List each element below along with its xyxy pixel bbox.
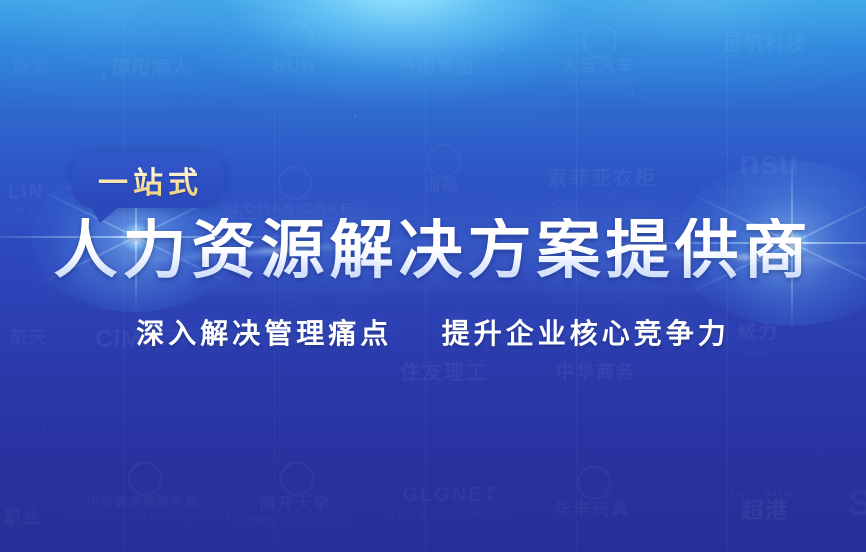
page-title: 人力资源解决方案提供商 — [0, 218, 866, 282]
page-subtitle: 深入解决管理痛点 提升企业核心竞争力 — [0, 312, 866, 352]
hero-content: 一站式 人力资源解决方案提供商 深入解决管理痛点 提升企业核心竞争力 — [0, 0, 866, 552]
page-subtitle-left: 深入解决管理痛点 — [136, 318, 392, 349]
one-stop-badge: 一站式 — [72, 151, 224, 208]
hr-solution-hero-banner: 能源 邵阳顺人 SUN 合图集团 大运汽车 DAYUNAUTO 远帆科技 LIN… — [0, 0, 866, 552]
one-stop-badge-label: 一站式 — [93, 158, 203, 202]
speech-bubble-icon: 一站式 — [72, 151, 224, 208]
page-subtitle-right: 提升企业核心竞争力 — [442, 318, 730, 349]
